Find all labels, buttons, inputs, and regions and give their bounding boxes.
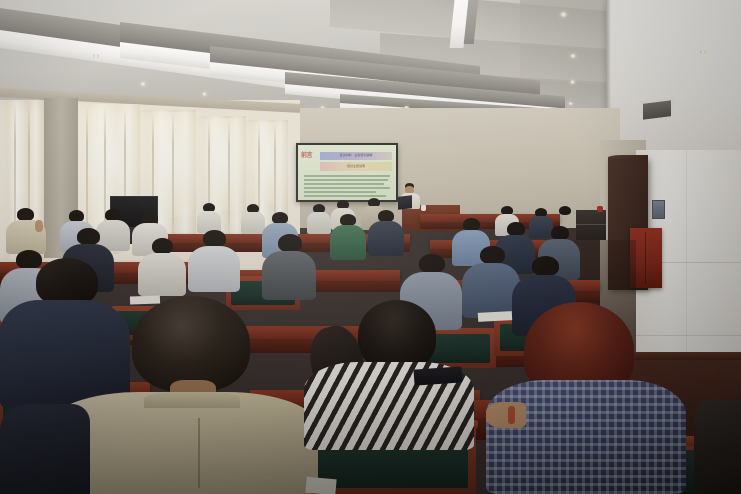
jacket-seam	[198, 418, 200, 488]
ceiling-air-vent-icon	[640, 97, 674, 123]
slide-body-line	[304, 183, 384, 185]
slide-body-line	[304, 195, 386, 197]
torso	[262, 251, 316, 300]
audience-member	[694, 400, 741, 494]
slide-body-line	[304, 179, 388, 181]
audience-member	[138, 238, 186, 296]
hair	[278, 234, 302, 252]
torso	[368, 221, 404, 256]
downlight	[570, 80, 575, 84]
hair	[358, 300, 436, 370]
back-shelf-divider	[576, 224, 606, 225]
downlight	[202, 92, 207, 96]
slide-banner-text: 会议材料 · 业务培训讲解	[322, 153, 390, 159]
raised-hand	[35, 220, 43, 232]
downlight	[568, 102, 573, 105]
curtain-fold	[172, 112, 174, 246]
downlight	[93, 54, 99, 58]
hair	[203, 230, 226, 247]
hair	[132, 296, 250, 392]
downlight	[140, 82, 146, 86]
paper-document	[130, 295, 160, 304]
hair	[551, 226, 569, 240]
slide-subtitle-text: 培训主题说明	[322, 164, 390, 169]
conference-room-photo: 前言 会议材料 · 业务培训讲解 培训主题说明	[0, 0, 741, 494]
presenter-laptop	[398, 195, 412, 209]
audience-member-auburn-ponytail	[486, 302, 686, 494]
torso-blue-pattern	[486, 380, 686, 494]
window-daylight-glow	[248, 122, 288, 204]
torso	[138, 253, 186, 296]
curtain-fold	[228, 118, 230, 240]
audience-member	[368, 210, 404, 256]
bracelet	[508, 406, 515, 424]
downlight	[570, 54, 576, 58]
downlight	[560, 12, 567, 17]
torso	[694, 400, 741, 494]
hair	[152, 238, 173, 254]
paper-document	[305, 477, 336, 494]
tablet-device[interactable]	[414, 366, 463, 385]
projection-screen-surface: 前言 会议材料 · 业务培训讲解 培训主题说明	[298, 145, 396, 200]
downlight	[700, 50, 706, 54]
hair	[532, 256, 559, 276]
slide-body-line	[304, 175, 390, 177]
hair	[480, 246, 505, 264]
hair	[507, 222, 525, 236]
audience-member	[330, 214, 366, 260]
presenter-cup	[421, 205, 426, 211]
torso	[330, 225, 366, 260]
slide-body-line	[304, 191, 376, 193]
forearm	[486, 402, 526, 428]
audience-member	[188, 230, 240, 292]
torso	[307, 212, 331, 234]
audience-member	[196, 203, 222, 233]
projection-screen: 前言 会议材料 · 业务培训讲解 培训主题说明	[296, 143, 398, 202]
audience-member	[0, 404, 90, 494]
audience-member	[262, 234, 316, 300]
shelf-red-object	[597, 206, 603, 212]
torso	[188, 246, 240, 292]
jacket-collar	[144, 392, 240, 408]
audience-member	[306, 204, 332, 234]
light-switch-panel[interactable]	[652, 200, 665, 219]
torso	[0, 404, 90, 494]
slide-body-line	[304, 187, 390, 189]
hair	[419, 254, 445, 273]
slide-title: 前言	[301, 153, 312, 160]
cabinet-seam	[645, 232, 646, 284]
back-shelf	[576, 210, 606, 240]
paper-document	[478, 311, 512, 322]
hair	[77, 228, 100, 245]
audience-member	[6, 208, 46, 254]
